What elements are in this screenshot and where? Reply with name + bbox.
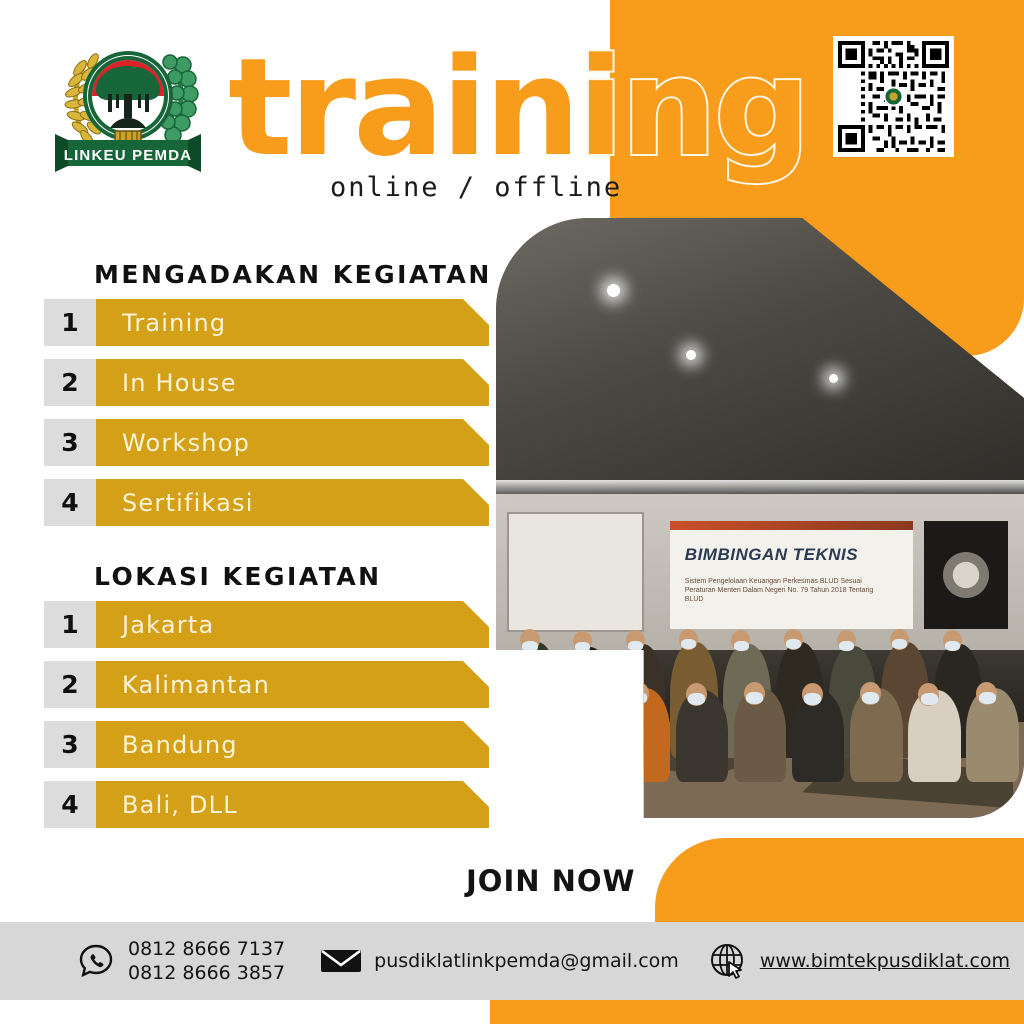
face-mask — [892, 639, 907, 649]
title-block: training — [228, 38, 808, 183]
attendee — [617, 688, 670, 782]
section-heading: LOKASI KEGIATAN — [94, 562, 489, 591]
list-item-bar: Sertifikasi — [96, 479, 489, 526]
face-mask — [804, 693, 821, 705]
attendee — [501, 688, 554, 782]
list-item-label: Bali, DLL — [122, 791, 238, 819]
face-mask — [575, 642, 590, 652]
phone-line-2: 0812 8666 3857 — [128, 962, 285, 984]
list-item-number: 2 — [44, 661, 96, 708]
section-lokasi-kegiatan: LOKASI KEGIATAN 1 Jakarta 2 Kalimantan 3… — [44, 562, 489, 841]
face-mask — [862, 692, 879, 704]
face-mask — [945, 641, 960, 651]
list-item-bar: Kalimantan — [96, 661, 489, 708]
banner-top-strip — [670, 521, 913, 530]
list-item-number: 3 — [44, 419, 96, 466]
event-banner: BIMBINGAN TEKNIS Sistem Pengelolaan Keua… — [670, 521, 913, 629]
list-item-bar: Workshop — [96, 419, 489, 466]
website-url: www.bimtekpusdiklat.com — [760, 949, 1010, 973]
contact-phone[interactable]: 0812 8666 7137 0812 8666 3857 — [78, 937, 285, 985]
section-mengadakan-kegiatan: MENGADAKAN KEGIATAN 1 Training 2 In Hous… — [44, 260, 492, 539]
banner-title: BIMBINGAN TEKNIS — [685, 545, 858, 565]
projector-screen — [507, 512, 644, 632]
crowd-row-front — [496, 680, 1024, 782]
face-mask — [746, 692, 763, 704]
join-now-label[interactable]: JOIN NOW — [466, 864, 636, 898]
list-item-number: 1 — [44, 299, 96, 346]
phone-line-1: 0812 8666 7137 — [128, 938, 285, 960]
poster-canvas: LINKEU PEMDA training online / offline — [0, 0, 1024, 1024]
face-mask — [786, 639, 801, 649]
attendee-head — [570, 683, 591, 706]
ceiling-light — [829, 374, 838, 383]
list-item-label: Bandung — [122, 731, 238, 759]
face-mask — [688, 693, 705, 705]
face-mask — [522, 641, 538, 652]
list-item-number: 3 — [44, 721, 96, 768]
qr-code[interactable] — [833, 36, 954, 157]
list-item[interactable]: 1 Jakarta — [44, 601, 489, 648]
cta-orange-shape — [655, 838, 1024, 923]
list-item[interactable]: 2 Kalimantan — [44, 661, 489, 708]
list-item[interactable]: 3 Bandung — [44, 721, 489, 768]
attendee — [565, 647, 613, 758]
banner-side-logo — [924, 521, 1008, 629]
contact-footer: 0812 8666 7137 0812 8666 3857 pusdiklatl… — [0, 922, 1024, 1000]
email-address: pusdiklatlinkpemda@gmail.com — [374, 949, 679, 973]
face-mask — [681, 639, 696, 649]
list-item-number: 4 — [44, 781, 96, 828]
list-item-bar: Training — [96, 299, 489, 346]
face-mask — [572, 693, 589, 705]
face-mask — [839, 641, 854, 651]
list-item[interactable]: 2 In House — [44, 359, 489, 406]
list-item-label: Kalimantan — [122, 671, 270, 699]
bottom-orange-strip — [490, 1000, 1024, 1024]
subtitle: online / offline — [330, 172, 622, 203]
page-title: training — [228, 38, 808, 178]
phone-numbers: 0812 8666 7137 0812 8666 3857 — [128, 937, 285, 985]
face-mask — [630, 692, 647, 704]
list-item[interactable]: 3 Workshop — [44, 419, 489, 466]
list-item-label: In House — [122, 369, 237, 397]
attendee-head — [512, 682, 533, 705]
section-heading: MENGADAKAN KEGIATAN — [94, 260, 492, 289]
list-item-bar: Jakarta — [96, 601, 489, 648]
list-item[interactable]: 4 Bali, DLL — [44, 781, 489, 828]
face-mask — [734, 641, 749, 651]
list-item-bar: Bandung — [96, 721, 489, 768]
list-item-number: 1 — [44, 601, 96, 648]
list-item-number: 2 — [44, 359, 96, 406]
list-item-number: 4 — [44, 479, 96, 526]
face-mask — [628, 641, 643, 651]
list-item-bar: In House — [96, 359, 489, 406]
contact-email[interactable]: pusdiklatlinkpemda@gmail.com — [321, 946, 679, 976]
title-segment-a: train — [228, 29, 578, 186]
globe-cursor-icon — [709, 942, 747, 980]
list-item-label: Sertifikasi — [122, 489, 254, 517]
face-mask — [979, 692, 996, 704]
list-item-label: Jakarta — [122, 611, 214, 639]
contact-website[interactable]: www.bimtekpusdiklat.com — [709, 942, 1010, 980]
list-item-bar: Bali, DLL — [96, 781, 489, 828]
ceiling-light — [607, 284, 620, 297]
face-mask — [921, 693, 938, 705]
list-item[interactable]: 1 Training — [44, 299, 489, 346]
logo-ribbon-text: LINKEU PEMDA — [64, 147, 193, 164]
envelope-icon — [321, 946, 361, 976]
attendee — [559, 690, 612, 782]
face-mask — [514, 692, 531, 704]
list-item-label: Workshop — [122, 429, 250, 457]
whatsapp-phone-icon — [78, 943, 114, 979]
linkeu-pemda-logo: LINKEU PEMDA — [52, 32, 204, 184]
list-item-label: Training — [122, 309, 226, 337]
list-item[interactable]: 4 Sertifikasi — [44, 479, 489, 526]
title-segment-b: ing — [578, 29, 808, 186]
banner-subtitle: Sistem Pengelolaan Keuangan Perkesmas BL… — [685, 577, 894, 604]
attendee — [512, 642, 560, 758]
